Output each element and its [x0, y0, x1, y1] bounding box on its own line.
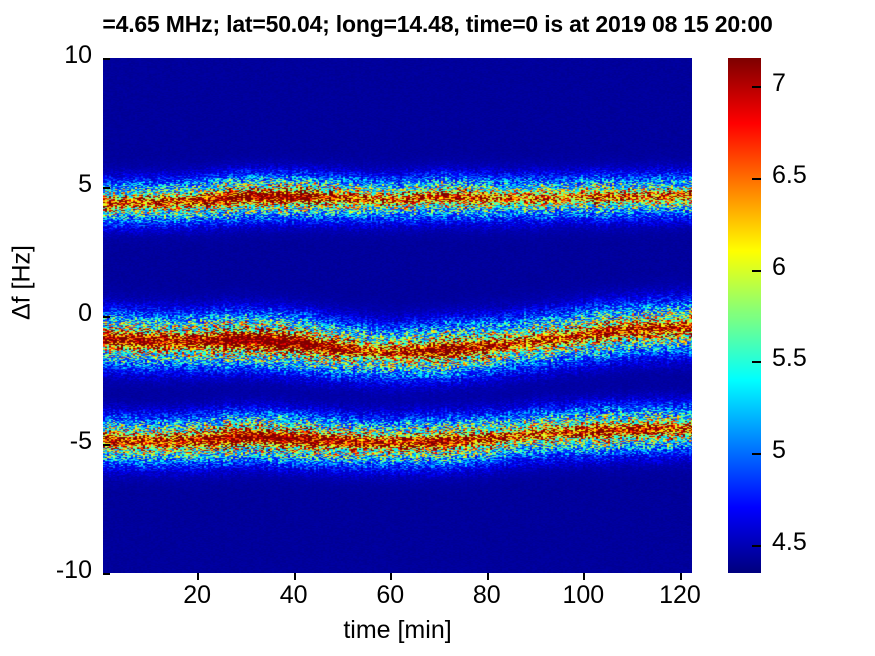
colorbar-tick-mark — [752, 86, 761, 88]
y-axis-tick-mark — [103, 187, 110, 189]
x-axis-tick-mark — [680, 573, 682, 580]
x-axis-tick-label: 100 — [543, 581, 623, 610]
x-axis-tick-label: 80 — [447, 581, 527, 610]
colorbar-tick-mark — [752, 453, 761, 455]
y-axis-tick-label: -10 — [22, 556, 92, 585]
x-axis-tick-label: 60 — [350, 581, 430, 610]
colorbar-tick-mark — [752, 361, 761, 363]
y-axis-tick-mark — [103, 58, 110, 60]
figure-title: =4.65 MHz; lat=50.04; long=14.48, time=0… — [0, 11, 875, 38]
y-axis-tick-label: 5 — [22, 170, 92, 199]
y-axis-tick-label: 10 — [22, 41, 92, 70]
spectrogram-image — [103, 58, 692, 573]
x-axis-tick-label: 20 — [157, 581, 237, 610]
colorbar-tick-mark — [752, 545, 761, 547]
x-axis-tick-mark — [390, 573, 392, 580]
colorbar-tick-label: 5.5 — [772, 344, 862, 373]
colorbar-tick-mark — [752, 270, 761, 272]
y-axis-tick-label: -5 — [22, 427, 92, 456]
colorbar-tick-label: 5 — [772, 436, 862, 465]
colorbar-tick-mark — [752, 178, 761, 180]
x-axis-tick-label: 120 — [640, 581, 720, 610]
colorbar-tick-label: 7 — [772, 69, 862, 98]
y-axis-tick-mark — [103, 444, 110, 446]
y-axis-tick-label: 0 — [22, 299, 92, 328]
y-axis-tick-mark — [103, 316, 110, 318]
colorbar — [728, 58, 761, 573]
x-axis-tick-mark — [197, 573, 199, 580]
colorbar-tick-label: 6 — [772, 253, 862, 282]
x-axis-tick-mark — [294, 573, 296, 580]
x-axis-tick-label: 40 — [254, 581, 334, 610]
x-axis-label: time [min] — [103, 616, 692, 645]
x-axis-tick-mark — [487, 573, 489, 580]
colorbar-gradient — [728, 58, 761, 573]
colorbar-tick-label: 4.5 — [772, 528, 862, 557]
colorbar-tick-label: 6.5 — [772, 161, 862, 190]
spectrogram-axes — [103, 58, 692, 573]
y-axis-tick-mark — [103, 573, 110, 575]
x-axis-tick-mark — [583, 573, 585, 580]
